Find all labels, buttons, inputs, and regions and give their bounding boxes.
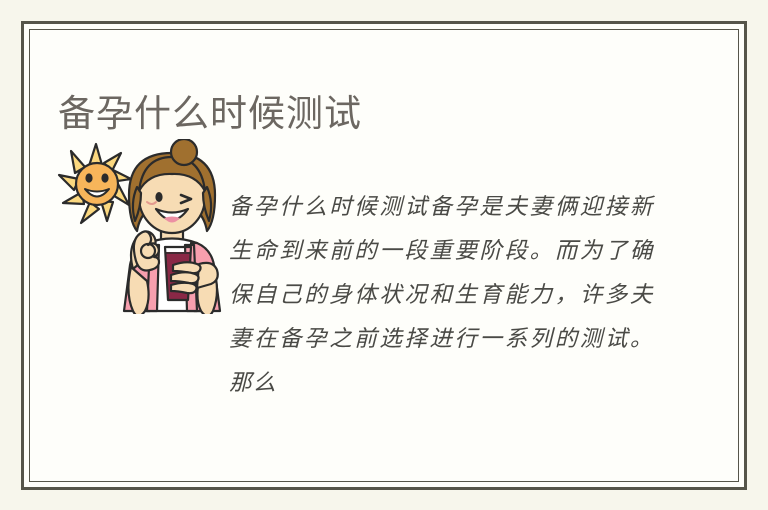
article-content: 备孕什么时候测试: [29, 29, 739, 482]
article-illustration: [55, 139, 230, 314]
page-title: 备孕什么时候测试: [58, 92, 362, 136]
article-body: 备孕什么时候测试备孕是夫妻俩迎接新生命到来前的一段重要阶段。而为了确保自己的身体…: [229, 185, 654, 405]
article-page: 备孕什么时候测试: [0, 0, 768, 510]
winking-woman-icon: [124, 139, 220, 314]
smiling-sun-icon: [59, 144, 131, 223]
